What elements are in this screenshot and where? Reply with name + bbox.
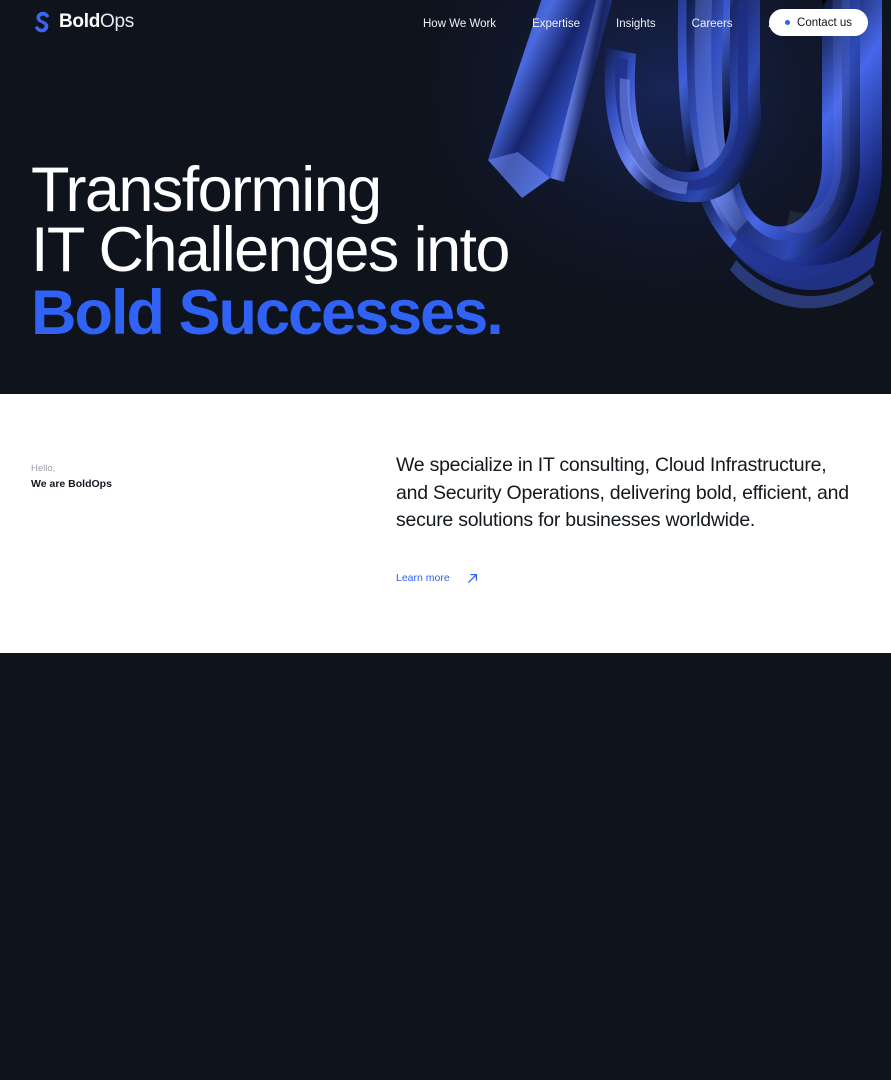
nav-item-insights[interactable]: Insights xyxy=(598,16,674,32)
boldops-swoosh-logo-icon xyxy=(32,11,52,33)
landing-page: BoldOps How We Work Expertise Insights C… xyxy=(0,0,891,1080)
hero-headline-line-3: Bold Successes. xyxy=(31,283,509,343)
hero-headline: Transforming IT Challenges into Bold Suc… xyxy=(31,160,509,343)
brand-name: BoldOps xyxy=(59,11,134,33)
intro-section: Hello, We are BoldOps We specialize in I… xyxy=(0,394,891,653)
intro-right-column: We specialize in IT consulting, Cloud In… xyxy=(396,452,861,535)
hero-headline-line-1: Transforming xyxy=(31,160,509,220)
brand-name-bold: Bold xyxy=(59,11,100,32)
intro-hello-label: Hello, xyxy=(31,462,112,476)
arrow-up-right-icon xyxy=(466,572,479,585)
contact-us-button[interactable]: Contact us xyxy=(769,9,868,36)
contact-us-label: Contact us xyxy=(797,17,852,29)
learn-more-link[interactable]: Learn more xyxy=(396,571,479,585)
how-we-work-section: HOW WE WORK Approaches Services Expertis… xyxy=(0,653,891,1080)
nav-item-careers[interactable]: Careers xyxy=(674,16,751,32)
intro-company-label: We are BoldOps xyxy=(31,476,112,492)
hero-headline-line-2: IT Challenges into xyxy=(31,220,509,280)
site-header: BoldOps How We Work Expertise Insights C… xyxy=(0,0,891,46)
status-dot-icon xyxy=(785,20,790,25)
intro-paragraph: We specialize in IT consulting, Cloud In… xyxy=(396,452,861,535)
brand-logo[interactable]: BoldOps xyxy=(32,11,134,33)
hero-section: BoldOps How We Work Expertise Insights C… xyxy=(0,0,891,394)
intro-left-column: Hello, We are BoldOps xyxy=(31,462,112,492)
nav-item-how-we-work[interactable]: How We Work xyxy=(405,16,514,32)
nav-item-expertise[interactable]: Expertise xyxy=(514,16,598,32)
learn-more-label: Learn more xyxy=(396,571,450,585)
brand-name-light: Ops xyxy=(100,11,134,32)
